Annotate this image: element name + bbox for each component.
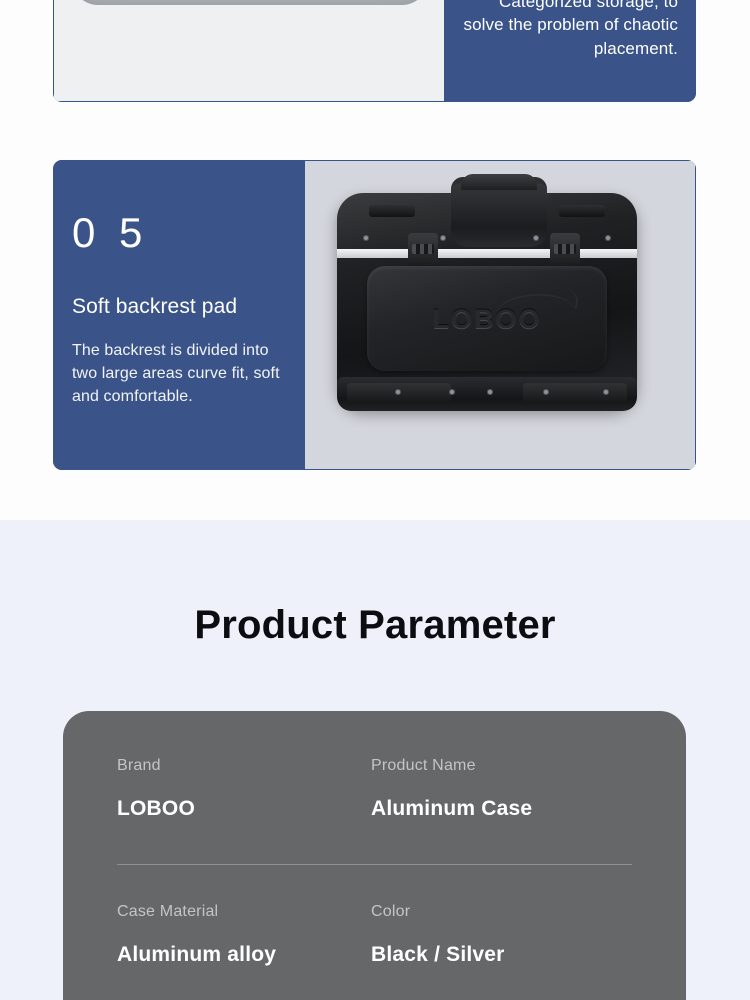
case-screw — [487, 389, 493, 395]
parameter-cell-brand: Brand LOBOO — [117, 757, 371, 833]
parameter-value-color: Black / Silver — [371, 943, 632, 967]
parameter-label-brand: Brand — [117, 757, 371, 775]
parameter-value-product-name: Aluminum Case — [371, 797, 632, 821]
parameter-label-product-name: Product Name — [371, 757, 632, 775]
parameter-label-color: Color — [371, 903, 632, 921]
case-vent-right — [559, 205, 605, 217]
case-vent-left — [369, 205, 415, 217]
feature-card-backrest: 0 5 Soft backrest pad The backrest is di… — [53, 160, 696, 470]
case-screw — [603, 389, 609, 395]
parameter-cell-product-name: Product Name Aluminum Case — [371, 757, 632, 833]
case-silver-band — [337, 249, 637, 258]
photo-closed-case: LOBOO — [305, 161, 695, 469]
feature-card-storage: Categorized storage, to solve the proble… — [53, 0, 696, 102]
page-title: Product Parameter — [0, 603, 750, 648]
feature-title-backrest: Soft backrest pad — [72, 294, 284, 319]
product-parameter-card: Brand LOBOO Product Name Aluminum Case C… — [63, 711, 686, 1000]
parameter-grid: Brand LOBOO Product Name Aluminum Case C… — [117, 757, 632, 979]
feature-image-cargo-net — [53, 0, 445, 102]
feature-image-case-rear: LOBOO — [304, 160, 696, 470]
case-screw — [533, 235, 539, 241]
parameter-cell-case-material: Case Material Aluminum alloy — [117, 903, 371, 979]
feature-text-panel-storage: Categorized storage, to solve the proble… — [445, 0, 696, 102]
parameter-value-case-material: Aluminum alloy — [117, 943, 371, 967]
backrest-pad: LOBOO — [367, 266, 607, 371]
parameter-value-brand: LOBOO — [117, 797, 371, 821]
feature-number-05: 0 5 — [72, 212, 284, 254]
parameter-label-case-material: Case Material — [117, 903, 371, 921]
case-shell — [72, 0, 428, 5]
feature-description-backrest: The backrest is divided into two large a… — [72, 340, 284, 408]
feature-description-storage: Categorized storage, to solve the proble… — [445, 0, 696, 102]
case-screw — [440, 235, 446, 241]
case-screw — [449, 389, 455, 395]
loboo-logo: LOBOO — [367, 304, 607, 335]
parameter-cell-color: Color Black / Silver — [371, 903, 632, 979]
case-screw — [605, 235, 611, 241]
feature-text-panel-backrest: 0 5 Soft backrest pad The backrest is di… — [53, 160, 304, 470]
case-screw — [395, 389, 401, 395]
case-screw — [363, 235, 369, 241]
case-rail-right — [523, 383, 627, 403]
parameter-divider — [117, 864, 632, 865]
photo-open-case — [54, 0, 444, 101]
case-screw — [543, 389, 549, 395]
